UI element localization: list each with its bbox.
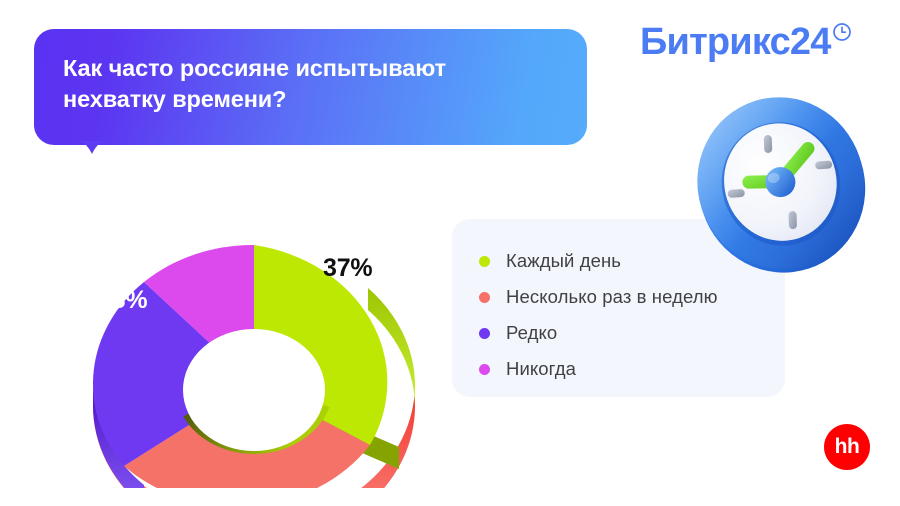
slice-label-several-times-week: 28% bbox=[212, 385, 261, 414]
hh-logo-text: hh bbox=[835, 436, 860, 457]
legend-color-dot bbox=[479, 364, 490, 375]
headline-speech-bubble: Как часто россияне испытывают нехватку в… bbox=[34, 29, 587, 145]
hh-logo[interactable]: hh bbox=[824, 424, 870, 470]
page-title: Как часто россияне испытывают нехватку в… bbox=[63, 53, 569, 115]
legend-item-label: Несколько раз в неделю bbox=[506, 287, 718, 307]
clock-body bbox=[686, 91, 877, 277]
legend-item-several-times-week[interactable]: Несколько раз в неделю bbox=[479, 279, 785, 315]
legend-color-dot bbox=[479, 328, 490, 339]
infographic-canvas: Как часто россияне испытывают нехватку в… bbox=[0, 0, 900, 506]
legend-color-dot bbox=[479, 256, 490, 267]
legend-item-label: Редко bbox=[506, 323, 557, 343]
bitrix24-logo[interactable]: Битрикс24 bbox=[640, 23, 852, 61]
legend-item-label: Никогда bbox=[506, 359, 576, 379]
legend-item-rarely[interactable]: Редко bbox=[479, 315, 785, 351]
legend-item-label: Каждый день bbox=[506, 251, 621, 271]
slice-label-every-day: 37% bbox=[323, 254, 372, 283]
bitrix24-logo-text: Битрикс24 bbox=[640, 23, 831, 61]
donut-chart-svg bbox=[58, 158, 448, 488]
slice-label-rarely: 23% bbox=[98, 286, 147, 315]
wall-clock-illustration bbox=[686, 91, 877, 277]
donut-chart: 37% 28% 23% 12% bbox=[58, 158, 448, 488]
legend-item-never[interactable]: Никогда bbox=[479, 351, 785, 387]
slice-label-never: 12% bbox=[178, 208, 227, 237]
legend-color-dot bbox=[479, 292, 490, 303]
clock-icon bbox=[832, 22, 852, 42]
